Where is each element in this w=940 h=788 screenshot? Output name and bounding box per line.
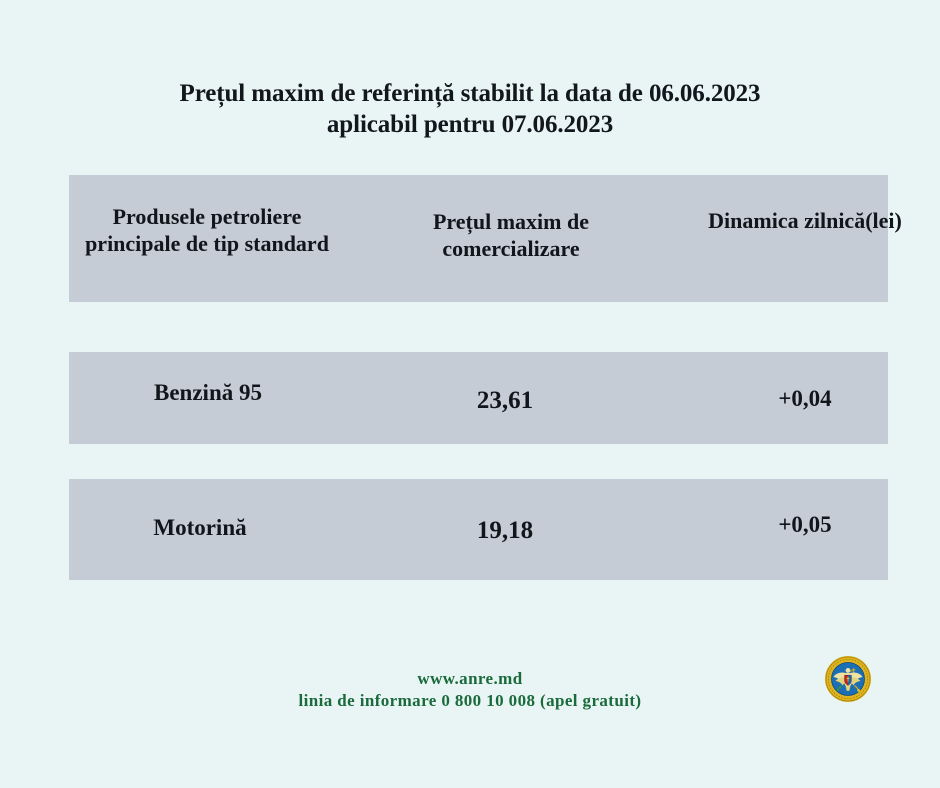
cell-price: 23,61 — [400, 387, 610, 415]
page-title-line-2: aplicabil pentru 07.06.2023 — [0, 109, 940, 140]
cell-product-name: Benzină 95 — [69, 380, 347, 406]
cell-daily-dynamics: +0,04 — [710, 386, 900, 412]
footer-infoline: linia de informare 0 800 10 008 (apel gr… — [0, 690, 940, 712]
column-header-dynamics: Dinamica zilnică(lei) — [700, 207, 910, 234]
cell-price: 19,18 — [400, 517, 610, 545]
footer-website[interactable]: www.anre.md — [0, 668, 940, 690]
page-title-line-1: Prețul maxim de referință stabilit la da… — [0, 78, 940, 109]
cell-product-name: Motorină — [69, 515, 331, 541]
cell-daily-dynamics: +0,05 — [710, 512, 900, 538]
column-header-price: Prețul maxim de comercializare — [380, 208, 642, 262]
poster-root: Prețul maxim de referință stabilit la da… — [0, 0, 940, 788]
column-header-product: Produsele petroliere principale de tip s… — [69, 203, 345, 257]
anre-logo-icon — [824, 655, 872, 703]
footer: www.anre.md linia de informare 0 800 10 … — [0, 668, 940, 712]
page-title: Prețul maxim de referință stabilit la da… — [0, 78, 940, 140]
